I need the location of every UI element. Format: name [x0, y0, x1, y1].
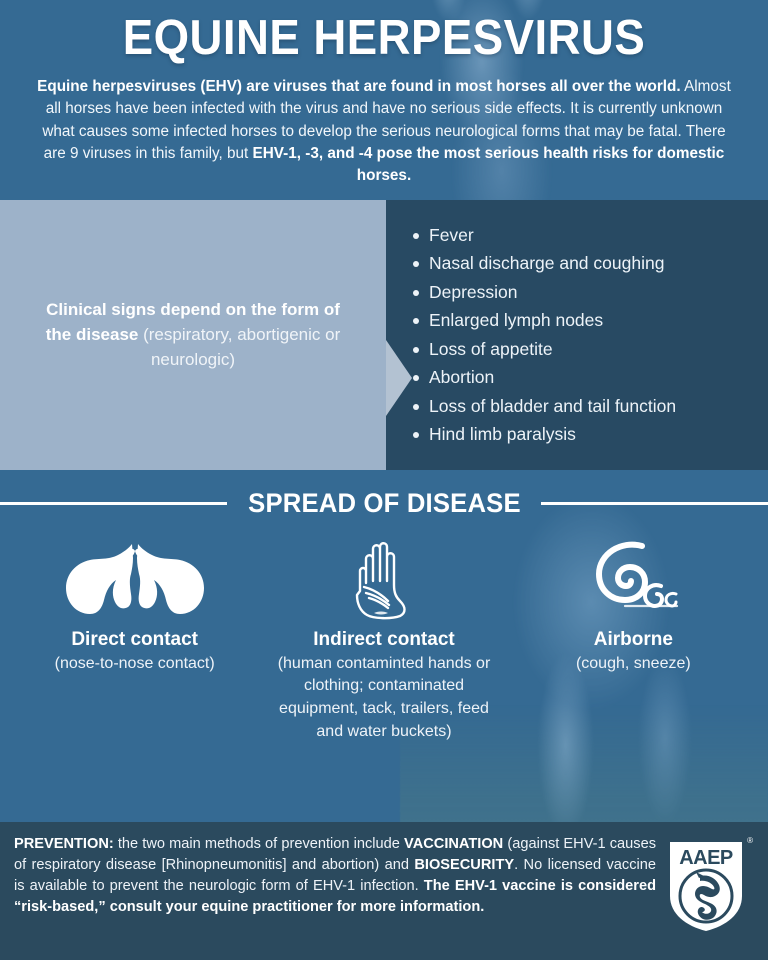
route-direct-contact: Direct contact (nose-to-nose contact) — [10, 535, 259, 744]
intro-bold-tail: EHV-1, -3, and -4 pose the most serious … — [253, 145, 725, 184]
route-indirect-contact: Indirect contact (human contaminted hand… — [259, 535, 508, 744]
arrow-right-icon — [386, 340, 412, 416]
list-item: Enlarged lymph nodes — [412, 306, 676, 335]
infographic-root: EQUINE HERPESVIRUS Equine herpesviruses … — [0, 0, 768, 960]
route-title: Indirect contact — [267, 629, 500, 651]
clinical-signs-list: Fever Nasal discharge and coughing Depre… — [412, 221, 676, 449]
spread-routes: Direct contact (nose-to-nose contact) — [0, 525, 768, 744]
intro-paragraph: Equine herpesviruses (EHV) are viruses t… — [34, 76, 734, 188]
hand-icon — [267, 535, 500, 621]
list-item: Nasal discharge and coughing — [412, 249, 676, 278]
route-detail: (cough, sneeze) — [517, 653, 750, 676]
section-title: SPREAD OF DISEASE — [248, 488, 521, 519]
prevention-bold-vaccination: VACCINATION — [404, 836, 503, 852]
clinical-signs-lead-text: Clinical signs depend on the form of the… — [34, 297, 352, 372]
clinical-signs-lead-panel: Clinical signs depend on the form of the… — [0, 200, 386, 470]
prevention-text: PREVENTION: the two main methods of prev… — [14, 834, 656, 919]
list-item: Loss of appetite — [412, 335, 676, 364]
list-item: Abortion — [412, 363, 676, 392]
prevention-body-1: the two main methods of prevention inclu… — [114, 836, 404, 852]
prevention-section: PREVENTION: the two main methods of prev… — [0, 822, 768, 960]
route-detail: (human contaminted hands or clothing; co… — [267, 653, 500, 744]
page-title: EQUINE HERPESVIRUS — [55, 14, 713, 64]
clinical-signs-section: Clinical signs depend on the form of the… — [0, 200, 768, 470]
list-item: Loss of bladder and tail function — [412, 392, 676, 421]
svg-text:AAEP: AAEP — [679, 847, 733, 869]
list-item: Fever — [412, 221, 676, 250]
spread-header: SPREAD OF DISEASE — [0, 474, 768, 525]
registered-mark: ® — [747, 836, 753, 845]
route-title: Direct contact — [18, 629, 251, 651]
list-item: Depression — [412, 278, 676, 307]
clinical-signs-list-panel: Fever Nasal discharge and coughing Depre… — [386, 200, 768, 470]
route-detail: (nose-to-nose contact) — [18, 653, 251, 676]
route-airborne: Airborne (cough, sneeze) — [509, 535, 758, 744]
two-horse-heads-icon — [18, 535, 251, 621]
prevention-label: PREVENTION: — [14, 836, 114, 852]
aaep-logo: ® AAEP — [666, 834, 752, 939]
spread-of-disease-section: SPREAD OF DISEASE Direct contact — [0, 470, 768, 744]
divider-left — [0, 502, 227, 505]
air-swirl-icon — [517, 535, 750, 621]
list-item: Hind limb paralysis — [412, 420, 676, 449]
divider-right — [541, 502, 768, 505]
intro-bold-lead: Equine herpesviruses (EHV) are viruses t… — [37, 78, 681, 95]
clinical-lead-detail: (respiratory, abortigenic or neurologic) — [138, 325, 340, 369]
prevention-bold-biosecurity: BIOSECURITY — [414, 857, 514, 873]
route-title: Airborne — [517, 629, 750, 651]
header-section: EQUINE HERPESVIRUS Equine herpesviruses … — [0, 0, 768, 200]
